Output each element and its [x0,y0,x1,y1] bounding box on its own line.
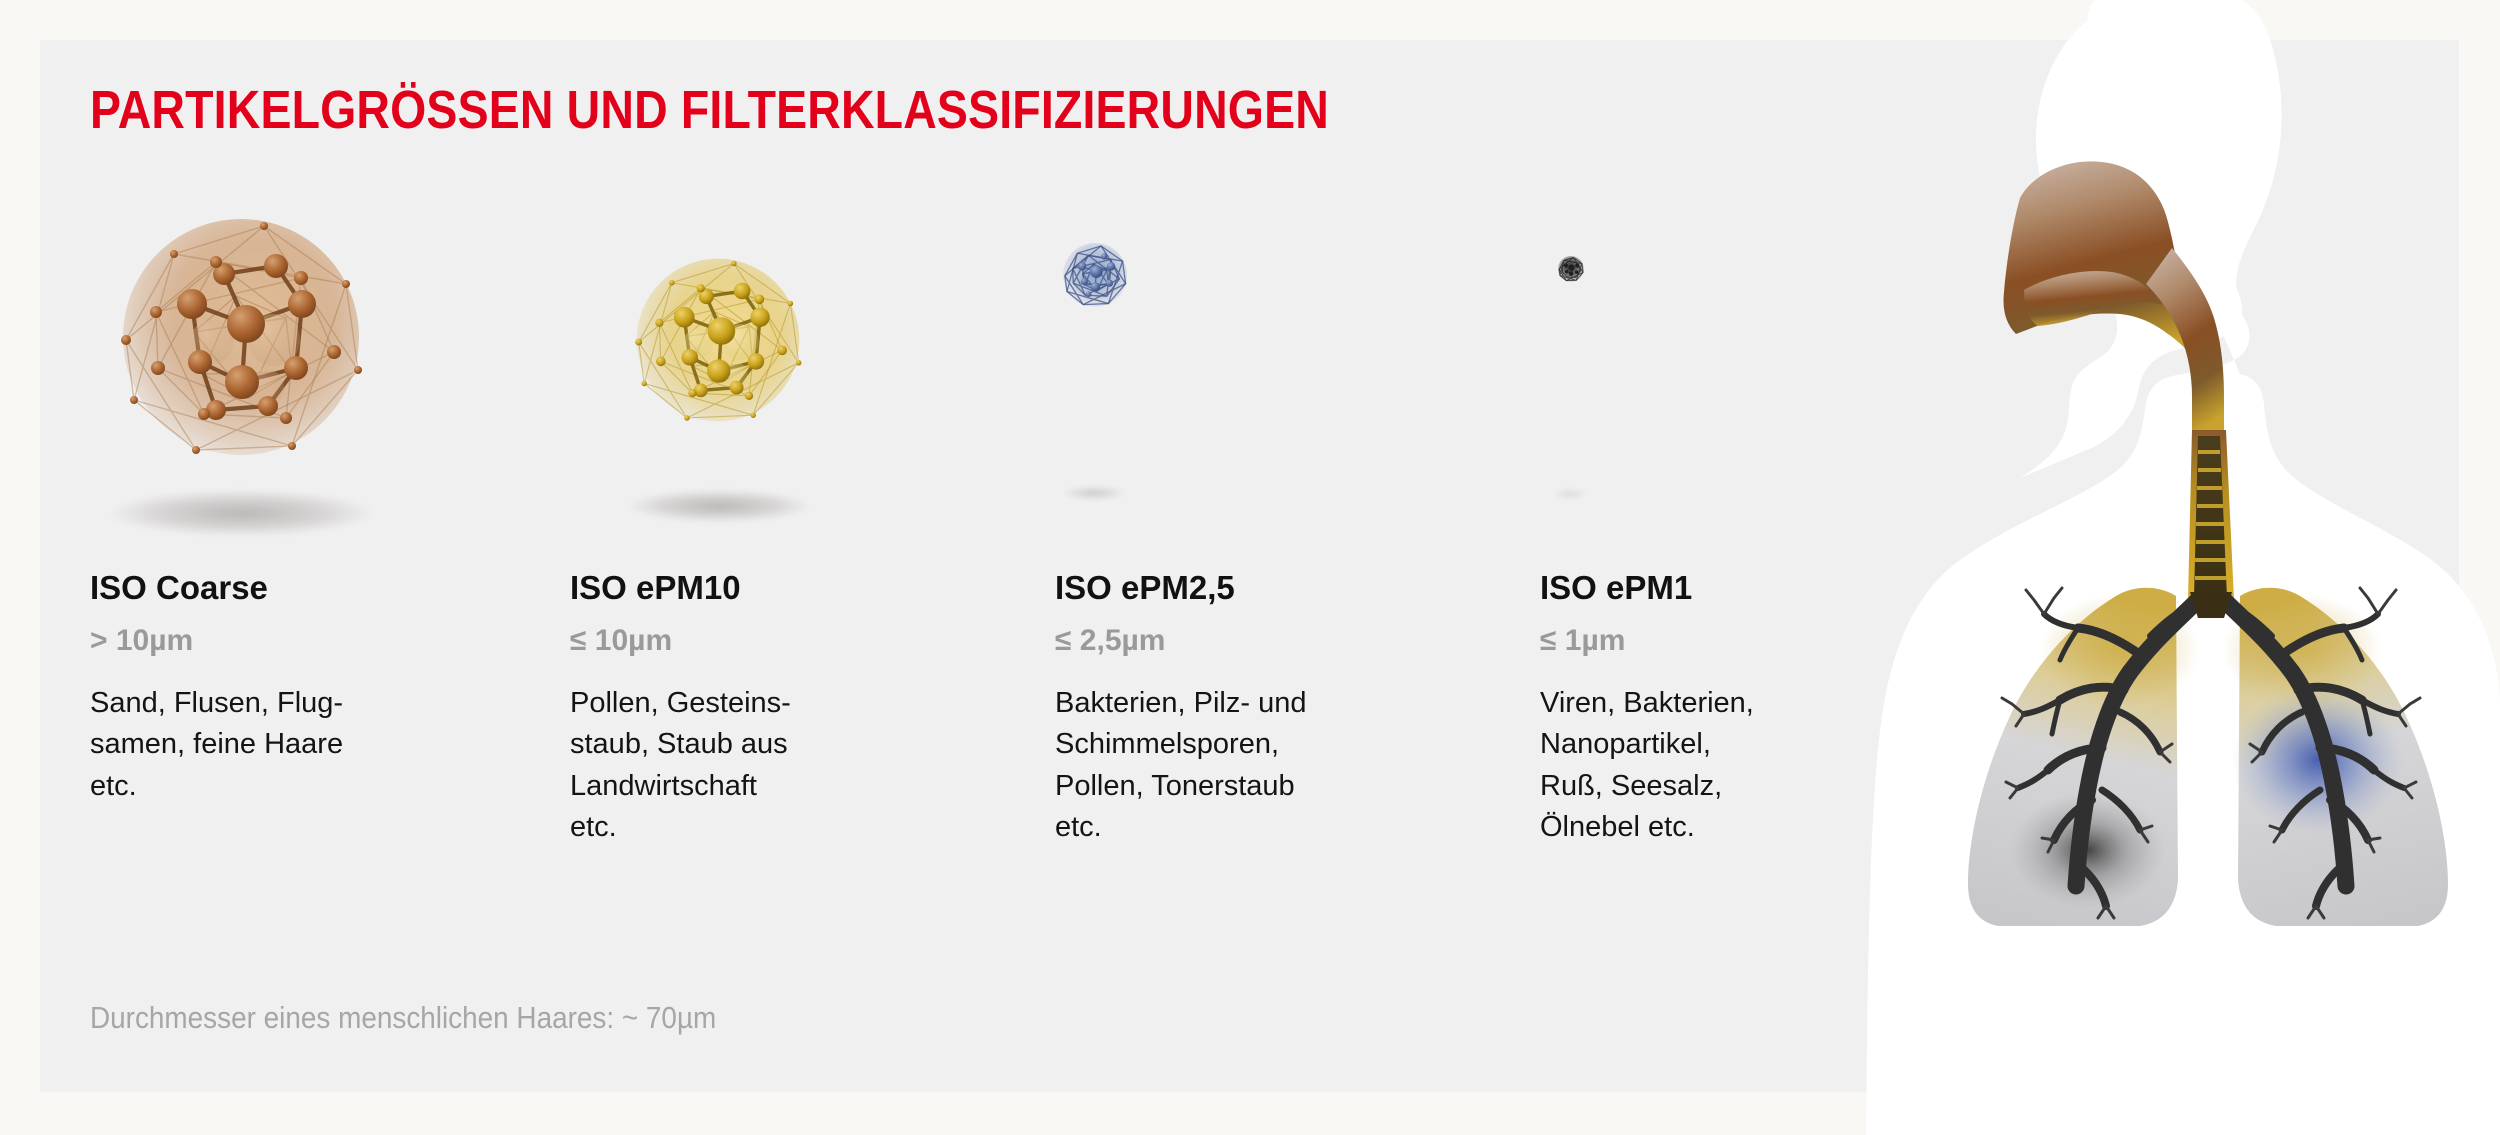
human-respiratory-system-illustration [1820,0,2500,1135]
particle-cluster-brown-icon [96,192,386,482]
particle-column-iso-epm10: ISO ePM10 ≤ 10µm Pollen, Gesteins-staub,… [570,180,870,848]
particle-art-iso-epm25 [1055,180,1355,570]
particle-label: ISO ePM2,5 [1055,570,1355,606]
page-title: PARTIKELGRÖSSEN UND FILTERKLASSIFIZIERUN… [90,82,1329,139]
trachea [2188,430,2234,600]
particle-label: ISO ePM1 [1540,570,1840,606]
particle-column-iso-epm25: ISO ePM2,5 ≤ 2,5µm Bakterien, Pilz- undS… [1055,180,1355,848]
particle-column-iso-epm1: ISO ePM1 ≤ 1µm Viren, Bakterien,Nanopart… [1540,180,1840,848]
particle-shadow [628,490,810,522]
particle-cluster-black-icon [1556,254,1586,284]
particle-shadow [110,490,372,536]
particle-description: Bakterien, Pilz- undSchimmelsporen,Polle… [1055,683,1385,848]
particle-description: Sand, Flusen, Flug-samen, feine Haareetc… [90,683,420,807]
particle-cluster-blue-icon [1057,237,1133,313]
particle-label: ISO Coarse [90,570,390,606]
particle-size: ≤ 2,5µm [1055,624,1355,657]
particle-cluster-yellow-icon [618,240,818,440]
particle-label: ISO ePM10 [570,570,870,606]
particle-art-iso-epm1 [1540,180,1840,570]
body-silhouette [1866,0,2500,1135]
particle-shadow [1553,490,1587,498]
particle-size: ≤ 1µm [1540,624,1840,657]
particle-size: ≤ 10µm [570,624,870,657]
particle-art-iso-epm10 [570,180,870,570]
particle-shadow [1063,487,1125,499]
particle-size: > 10µm [90,624,390,657]
hair-diameter-note: Durchmesser eines menschlichen Haares: ~… [90,1000,716,1036]
particle-description: Pollen, Gesteins-staub, Staub ausLandwir… [570,683,900,848]
infographic-root: PARTIKELGRÖSSEN UND FILTERKLASSIFIZIERUN… [0,0,2500,1135]
particle-column-iso-coarse: ISO Coarse > 10µm Sand, Flusen, Flug-sam… [90,180,390,807]
particle-art-iso-coarse [90,180,390,570]
